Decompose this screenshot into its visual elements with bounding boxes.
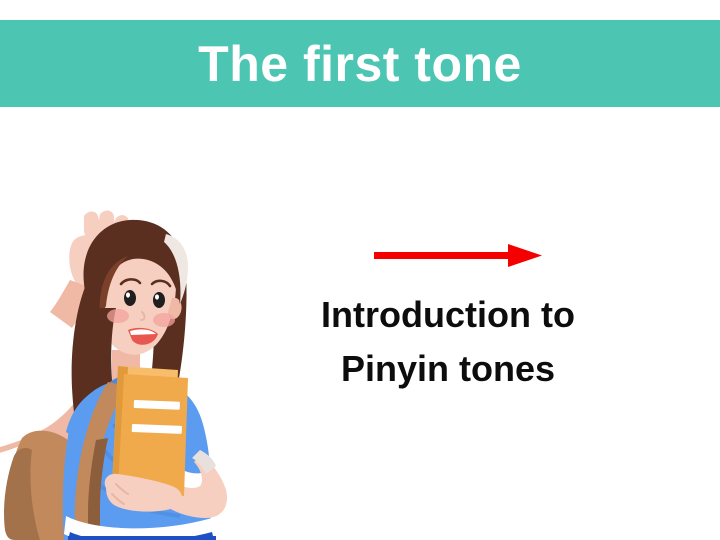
subtitle-line-2: Pinyin tones bbox=[258, 342, 638, 396]
subtitle-line-1: Introduction to bbox=[258, 288, 638, 342]
right-arrow bbox=[368, 236, 548, 276]
title-banner: The first tone bbox=[0, 20, 720, 107]
blush-left bbox=[107, 309, 129, 323]
eye-right-highlight bbox=[155, 294, 159, 299]
student-illustration bbox=[0, 188, 258, 540]
arrow-head bbox=[508, 244, 542, 267]
arrow-shaft bbox=[374, 252, 514, 259]
pants-fill bbox=[68, 536, 216, 540]
subtitle-block: Introduction to Pinyin tones bbox=[258, 288, 638, 396]
eye-left-highlight bbox=[126, 292, 130, 297]
page-title: The first tone bbox=[198, 39, 522, 89]
eye-right bbox=[153, 292, 165, 308]
blush-right bbox=[153, 313, 175, 327]
right-arrow-icon bbox=[368, 236, 548, 276]
slide-canvas: The first tone bbox=[0, 0, 720, 540]
eye-left bbox=[124, 290, 136, 306]
female-student-illustration-svg bbox=[0, 188, 258, 540]
